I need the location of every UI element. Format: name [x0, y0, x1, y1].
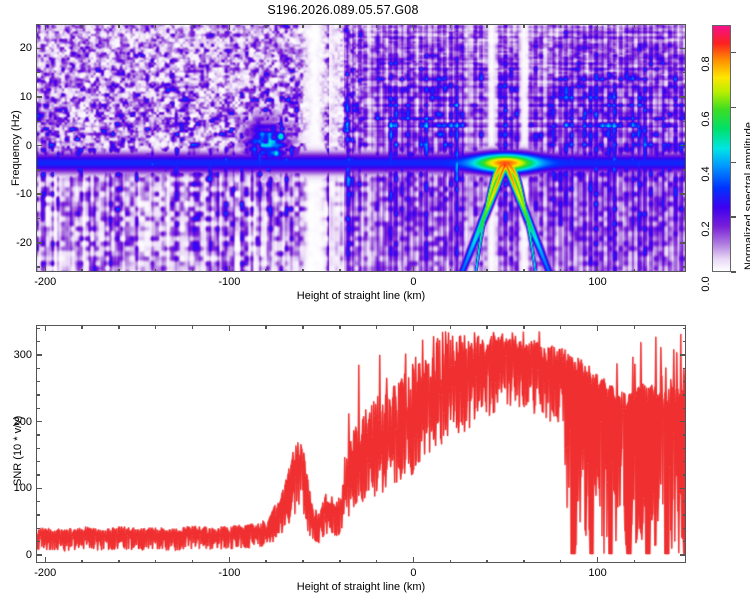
axis-tick	[683, 381, 687, 382]
colorbar-tick-label: 0.4	[700, 160, 712, 188]
axis-tick	[683, 448, 687, 449]
axis-tick	[36, 121, 40, 122]
axis-tick	[680, 193, 686, 194]
axis-tick	[36, 381, 40, 382]
axis-tick	[680, 242, 686, 243]
axis-tick	[683, 514, 687, 515]
axis-tick	[413, 266, 414, 272]
axis-tick	[36, 169, 40, 170]
axis-tick	[486, 325, 487, 329]
axis-tick	[192, 269, 193, 273]
axis-tick	[683, 218, 687, 219]
axis-tick	[118, 269, 119, 273]
colorbar-tick	[731, 271, 736, 272]
axis-tick	[597, 266, 598, 272]
colorbar	[712, 25, 731, 272]
axis-tick	[118, 24, 119, 28]
axis-tick	[339, 269, 340, 273]
axis-tick	[683, 501, 687, 502]
axis-tick	[560, 24, 561, 28]
axis-tick	[523, 24, 524, 28]
spectrogram-x-tick-label: 100	[588, 276, 606, 288]
axis-tick	[683, 368, 687, 369]
axis-tick	[36, 421, 42, 422]
spectrogram-y-axis-label: Frequency (Hz)	[10, 110, 22, 186]
axis-tick	[680, 354, 686, 355]
axis-tick	[683, 341, 687, 342]
axis-tick	[339, 24, 340, 28]
axis-tick	[683, 169, 687, 170]
axis-tick	[339, 325, 340, 329]
axis-tick	[680, 488, 686, 489]
snr-x-tick-label: 100	[588, 567, 606, 579]
axis-tick	[683, 394, 687, 395]
figure-root: S196.2026.089.05.57.G08 -200-1000100-20-…	[0, 0, 750, 600]
snr-axes	[36, 325, 686, 563]
axis-tick	[634, 269, 635, 273]
snr-y-tick-label: 300	[8, 349, 32, 361]
colorbar-gradient	[713, 26, 730, 271]
axis-tick	[634, 560, 635, 564]
axis-tick	[683, 266, 687, 267]
axis-tick	[597, 557, 598, 563]
axis-tick	[486, 560, 487, 564]
colorbar-tick-label: 0.0	[700, 270, 712, 298]
axis-tick	[36, 434, 40, 435]
axis-tick	[36, 341, 40, 342]
axis-tick	[634, 325, 635, 329]
spectrogram-x-axis-label: Height of straight line (km)	[297, 290, 425, 302]
spectrogram-x-tick-label: -100	[218, 276, 240, 288]
axis-tick	[36, 368, 40, 369]
axis-tick	[560, 560, 561, 564]
snr-trace	[37, 326, 685, 562]
axis-tick	[36, 408, 40, 409]
axis-tick	[36, 218, 40, 219]
axis-tick	[683, 121, 687, 122]
colorbar-tick	[731, 216, 736, 217]
axis-tick	[376, 560, 377, 564]
axis-tick	[680, 421, 686, 422]
axis-tick	[413, 24, 414, 30]
axis-tick	[486, 269, 487, 273]
axis-tick	[450, 24, 451, 28]
axis-tick	[155, 560, 156, 564]
axis-tick	[339, 560, 340, 564]
axis-tick	[523, 560, 524, 564]
axis-tick	[523, 269, 524, 273]
axis-tick	[560, 325, 561, 329]
page-title: S196.2026.089.05.57.G08	[0, 3, 686, 17]
snr-x-tick-label: -100	[218, 567, 240, 579]
axis-tick	[155, 24, 156, 28]
spectrogram-y-tick-label: 10	[10, 91, 32, 103]
axis-tick	[683, 474, 687, 475]
axis-tick	[302, 560, 303, 564]
axis-tick	[376, 24, 377, 28]
axis-tick	[680, 96, 686, 97]
snr-x-axis-label: Height of straight line (km)	[297, 581, 425, 593]
axis-tick	[45, 24, 46, 30]
colorbar-tick-label: 0.2	[700, 215, 712, 243]
axis-tick	[229, 325, 230, 331]
axis-tick	[683, 408, 687, 409]
axis-tick	[81, 269, 82, 273]
axis-tick	[229, 266, 230, 272]
axis-tick	[118, 325, 119, 329]
axis-tick	[36, 461, 40, 462]
axis-tick	[36, 328, 40, 329]
axis-tick	[36, 72, 40, 73]
axis-tick	[597, 24, 598, 30]
axis-tick	[265, 560, 266, 564]
axis-tick	[36, 193, 42, 194]
axis-tick	[36, 528, 40, 529]
axis-tick	[36, 266, 40, 267]
axis-tick	[81, 560, 82, 564]
axis-tick	[36, 554, 42, 555]
axis-tick	[36, 145, 42, 146]
axis-tick	[597, 325, 598, 331]
axis-tick	[192, 24, 193, 28]
axis-tick	[413, 325, 414, 331]
axis-tick	[486, 24, 487, 28]
axis-tick	[229, 557, 230, 563]
axis-tick	[302, 269, 303, 273]
axis-tick	[523, 325, 524, 329]
spectrogram-axes	[36, 24, 686, 272]
snr-y-tick-label: 0	[8, 549, 32, 561]
axis-tick	[302, 24, 303, 28]
axis-tick	[683, 72, 687, 73]
axis-tick	[36, 474, 40, 475]
axis-tick	[45, 325, 46, 331]
axis-tick	[450, 560, 451, 564]
axis-tick	[450, 325, 451, 329]
colorbar-tick-label: 0.6	[700, 105, 712, 133]
axis-tick	[683, 541, 687, 542]
spectrogram-x-tick-label: 0	[410, 276, 416, 288]
axis-tick	[36, 354, 42, 355]
axis-tick	[36, 96, 42, 97]
spectrogram-y-tick-label: -10	[10, 188, 32, 200]
colorbar-tick	[731, 162, 736, 163]
axis-tick	[192, 325, 193, 329]
axis-tick	[155, 325, 156, 329]
axis-tick	[450, 269, 451, 273]
axis-tick	[45, 557, 46, 563]
spectrogram-y-tick-label: 20	[10, 42, 32, 54]
axis-tick	[680, 554, 686, 555]
axis-tick	[81, 325, 82, 329]
axis-tick	[36, 48, 42, 49]
axis-tick	[302, 325, 303, 329]
axis-tick	[229, 24, 230, 30]
axis-tick	[265, 269, 266, 273]
axis-tick	[376, 269, 377, 273]
axis-tick	[683, 434, 687, 435]
axis-tick	[81, 24, 82, 28]
axis-tick	[680, 145, 686, 146]
axis-tick	[155, 269, 156, 273]
snr-x-tick-label: -200	[34, 567, 56, 579]
axis-tick	[680, 48, 686, 49]
axis-tick	[413, 557, 414, 563]
axis-tick	[36, 501, 40, 502]
axis-tick	[118, 560, 119, 564]
axis-tick	[683, 461, 687, 462]
snr-y-axis-label: SNR (10 * v/v)	[12, 416, 24, 486]
colorbar-tick	[731, 52, 736, 53]
axis-tick	[36, 394, 40, 395]
axis-tick	[560, 269, 561, 273]
axis-tick	[192, 560, 193, 564]
colorbar-tick-label: 0.8	[700, 50, 712, 78]
axis-tick	[634, 24, 635, 28]
axis-tick	[36, 541, 40, 542]
axis-tick	[36, 242, 42, 243]
colorbar-title: Normalized spectral amplitude	[743, 122, 750, 270]
axis-tick	[45, 266, 46, 272]
axis-tick	[36, 448, 40, 449]
snr-x-tick-label: 0	[410, 567, 416, 579]
axis-tick	[683, 328, 687, 329]
axis-tick	[36, 488, 42, 489]
axis-tick	[36, 514, 40, 515]
axis-tick	[265, 325, 266, 329]
axis-tick	[265, 24, 266, 28]
colorbar-tick	[731, 107, 736, 108]
spectrogram-y-tick-label: -20	[10, 237, 32, 249]
axis-tick	[376, 325, 377, 329]
axis-tick	[683, 528, 687, 529]
spectrogram-x-tick-label: -200	[34, 276, 56, 288]
spectrogram-image	[37, 25, 685, 271]
